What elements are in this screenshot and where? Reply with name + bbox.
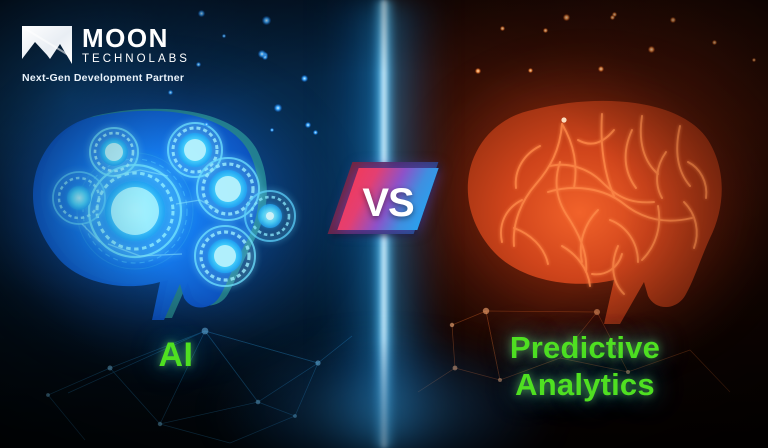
particle-blue	[270, 128, 274, 132]
brand-name-secondary: TECHNOLABS	[82, 51, 190, 68]
particle-blue	[262, 16, 271, 25]
particle-blue	[258, 50, 266, 58]
label-ai: AI	[0, 336, 352, 375]
versus-badge-label: VS	[340, 164, 436, 242]
versus-badge: VS	[340, 160, 436, 246]
brain-spark	[561, 117, 566, 122]
particle-orange	[563, 14, 570, 21]
particle-blue	[313, 130, 318, 135]
particle-blue	[196, 62, 201, 67]
particle-orange	[670, 17, 676, 23]
brand-tagline: Next-Gen Development Partner	[22, 72, 190, 84]
particle-orange	[648, 46, 655, 53]
brand-logo[interactable]: MOON TECHNOLABS Next-Gen Development Par…	[22, 26, 190, 84]
label-predictive-analytics-line2: Analytics	[420, 367, 750, 404]
ai-brain-svg	[22, 104, 304, 326]
particle-orange	[610, 15, 615, 20]
particle-blue	[222, 34, 226, 38]
particle-orange	[528, 68, 533, 73]
label-predictive-analytics-line1: Predictive	[420, 330, 750, 367]
particle-orange	[543, 28, 548, 33]
brand-name-primary: MOON	[82, 26, 190, 51]
particle-blue	[168, 90, 173, 95]
particle-blue	[204, 122, 209, 127]
predictive-analytics-brain-graphic	[452, 96, 740, 328]
particle-orange	[712, 40, 717, 45]
label-predictive-analytics: Predictive Analytics	[420, 330, 750, 403]
particle-blue	[274, 104, 282, 112]
particle-orange	[598, 66, 604, 72]
particle-orange	[752, 58, 756, 62]
pa-brain-svg	[452, 96, 740, 328]
particle-blue	[305, 122, 311, 128]
particle-blue	[198, 10, 205, 17]
banner-canvas: MOON TECHNOLABS Next-Gen Development Par…	[0, 0, 768, 448]
ai-brain-graphic	[22, 104, 304, 326]
moon-technolabs-mountain-mark	[22, 26, 72, 64]
particle-orange	[475, 68, 481, 74]
particle-blue	[301, 75, 308, 82]
particle-orange	[500, 26, 505, 31]
